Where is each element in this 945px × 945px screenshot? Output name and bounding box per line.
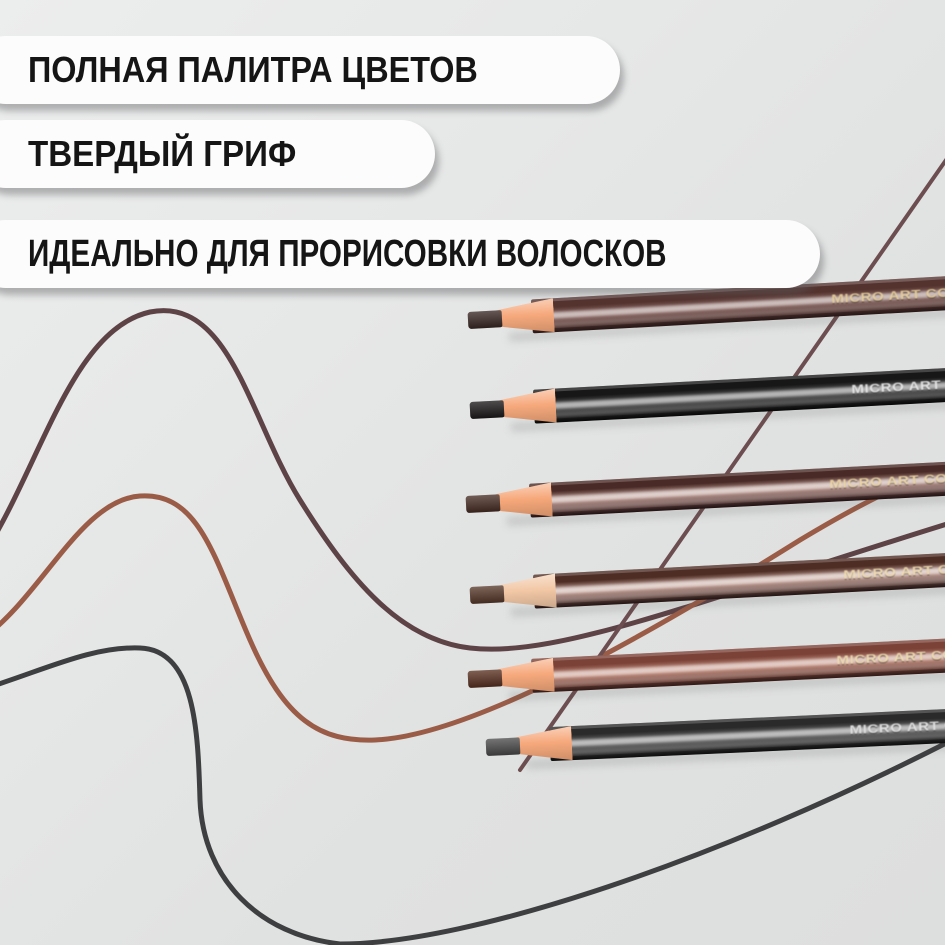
feature-banner-2: ТВЕРДЫЙ ГРИФ	[0, 120, 435, 188]
pencil-lead-tip	[470, 585, 505, 604]
cone-shading	[499, 389, 557, 426]
cone-shading	[497, 298, 555, 335]
pencil-graphite: MICRO ART COS	[485, 706, 945, 764]
cone-shading	[497, 658, 555, 695]
product-promo-canvas: MICRO ART COSMICRO ART COSMICRO ART COSM…	[0, 0, 945, 945]
cone-shading	[495, 483, 553, 520]
pencil-lead-tip	[466, 494, 501, 513]
pencil-lead-tip	[468, 669, 503, 688]
cone-shading	[499, 574, 557, 611]
feature-banner-1: ПОЛНАЯ ПАЛИТРА ЦВЕТОВ	[0, 36, 620, 104]
lead-shading	[468, 669, 503, 688]
feature-banner-label: ИДЕАЛЬНО ДЛЯ ПРОРИСОВКИ ВОЛОСКОВ	[28, 235, 667, 273]
pencil-cocoa: MICRO ART COS	[465, 459, 945, 521]
pencil-lead-tip	[468, 310, 503, 329]
lead-shading	[470, 400, 505, 419]
lead-shading	[486, 737, 521, 756]
cone-shading	[515, 726, 572, 763]
pencil-lead-tip	[486, 737, 521, 756]
pencil-wood-cone	[499, 574, 557, 611]
pencil-black: MICRO ART COS	[469, 365, 945, 427]
feature-banner-3: ИДЕАЛЬНО ДЛЯ ПРОРИСОВКИ ВОЛОСКОВ	[0, 220, 820, 288]
pencil-chocolate: MICRO ART COS	[469, 550, 945, 612]
lead-shading	[470, 585, 505, 604]
pencil-wood-cone	[499, 389, 557, 426]
feature-banner-label: ПОЛНАЯ ПАЛИТРА ЦВЕТОВ	[28, 52, 478, 88]
feature-banner-label: ТВЕРДЫЙ ГРИФ	[28, 136, 296, 172]
pencil-wood-cone	[515, 726, 572, 763]
pencil-wood-cone	[497, 298, 555, 335]
pencil-wood-cone	[495, 483, 553, 520]
pencil-wood-cone	[497, 658, 555, 695]
pencil-auburn: MICRO ART COS	[467, 636, 945, 696]
lead-shading	[468, 310, 503, 329]
lead-shading	[466, 494, 501, 513]
pencil-lead-tip	[470, 400, 505, 419]
